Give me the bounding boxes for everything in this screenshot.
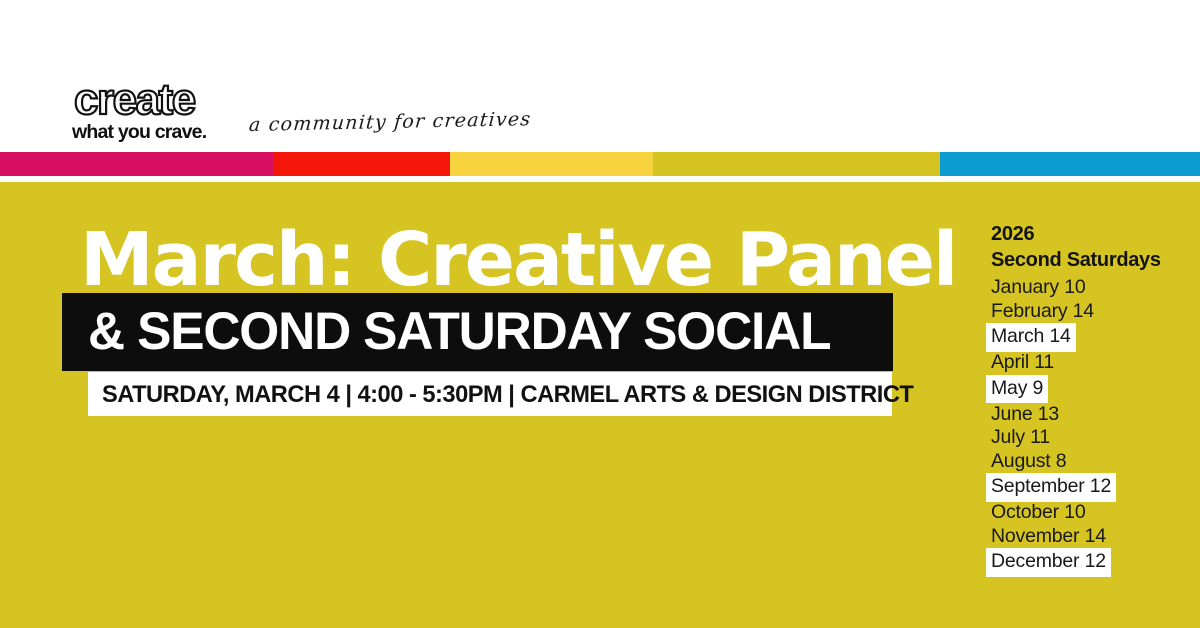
logo-wordmark: create [72, 80, 232, 120]
schedule-row: December 12 [989, 548, 1194, 576]
schedule-month-12: December 12 [986, 548, 1111, 577]
schedule-subtitle: Second Saturdays [991, 247, 1194, 273]
schedule-month-8: August 8 [987, 450, 1070, 474]
schedule-row: November 14 [989, 525, 1194, 549]
logo-tagline: what you crave. [72, 121, 232, 143]
color-swatch-blue [940, 152, 1200, 176]
brand-color-bar [0, 152, 1200, 176]
schedule-row: October 10 [989, 501, 1194, 525]
schedule-month-2: February 14 [987, 300, 1098, 324]
schedule-row: May 9 [989, 375, 1194, 403]
schedule-year: 2026 [991, 222, 1194, 247]
event-title: March: Creative Panel [80, 222, 910, 298]
schedule-month-7: July 11 [987, 426, 1054, 450]
schedule-month-4: April 11 [987, 351, 1058, 375]
brand-logo: create what you crave. [72, 80, 232, 143]
color-swatch-pink [0, 152, 273, 176]
schedule-month-9: September 12 [986, 473, 1116, 502]
schedule-month-3: March 14 [986, 323, 1076, 352]
color-swatch-red [273, 152, 450, 176]
color-swatch-olive-yellow [653, 152, 940, 176]
schedule-panel: 2026 Second Saturdays January 10February… [989, 222, 1194, 576]
script-tagline: a community for creatives [248, 108, 532, 136]
event-details: SATURDAY, MARCH 4 | 4:00 - 5:30PM | CARM… [102, 381, 913, 409]
schedule-row: June 13 [989, 403, 1194, 427]
event-subtitle-band: & SECOND SATURDAY SOCIAL [62, 293, 893, 371]
color-swatch-light-yellow [450, 152, 653, 176]
schedule-row: July 11 [989, 426, 1194, 450]
schedule-row: January 10 [989, 276, 1194, 300]
schedule-month-list: January 10February 14March 14April 11May… [989, 276, 1194, 576]
event-subtitle: & SECOND SATURDAY SOCIAL [88, 301, 830, 363]
event-poster: create what you crave. a community for c… [0, 0, 1200, 628]
schedule-row: April 11 [989, 351, 1194, 375]
event-details-band: SATURDAY, MARCH 4 | 4:00 - 5:30PM | CARM… [88, 372, 892, 416]
schedule-month-6: June 13 [987, 403, 1063, 427]
schedule-row: August 8 [989, 450, 1194, 474]
schedule-month-5: May 9 [986, 375, 1048, 404]
poster-header: create what you crave. a community for c… [0, 0, 1200, 152]
schedule-row: March 14 [989, 323, 1194, 351]
schedule-month-1: January 10 [987, 276, 1089, 300]
schedule-row: September 12 [989, 473, 1194, 501]
schedule-month-10: October 10 [987, 501, 1089, 525]
schedule-month-11: November 14 [987, 525, 1110, 549]
schedule-row: February 14 [989, 300, 1194, 324]
